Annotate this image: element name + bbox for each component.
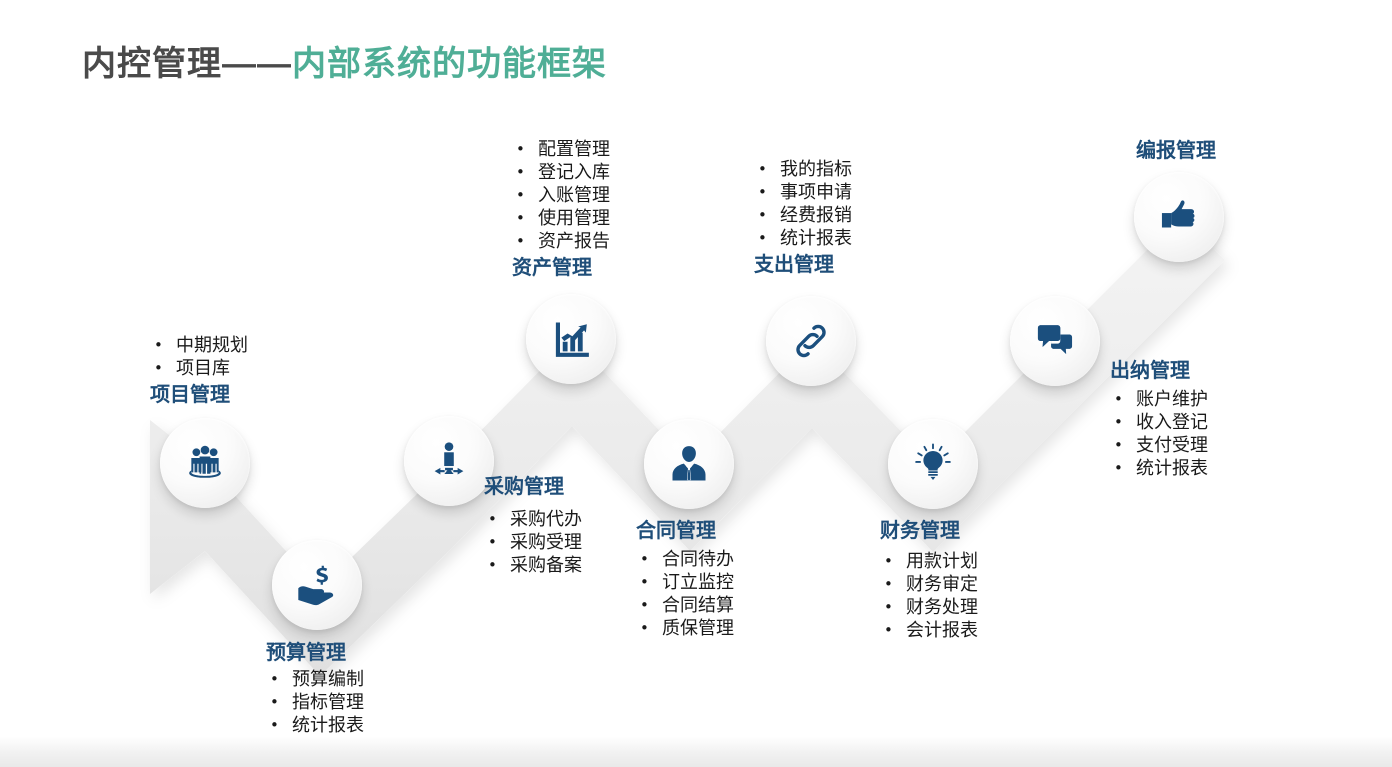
label-procurement-management: 采购管理 采购代办 采购受理 采购备案 — [484, 474, 582, 577]
list-item: 配置管理 — [512, 138, 610, 161]
group-title-expenditure-management: 支出管理 — [754, 252, 852, 278]
node-circle-contract-management[interactable] — [644, 419, 734, 509]
list-item: 合同结算 — [636, 594, 734, 617]
group-title-budget-management: 预算管理 — [266, 640, 364, 666]
bullet-list-asset-management: 配置管理 登记入库 入账管理 使用管理 资产报告 — [512, 138, 610, 253]
list-item: 采购受理 — [484, 531, 582, 554]
list-item: 统计报表 — [754, 227, 852, 250]
node-circle-project-management[interactable] — [160, 418, 250, 508]
label-expenditure-management: 我的指标 事项申请 经费报销 统计报表 支出管理 — [754, 158, 852, 278]
list-item: 预算编制 — [266, 668, 364, 691]
group-title-project-management: 项目管理 — [150, 382, 248, 408]
label-report-management: 编报管理 — [1136, 136, 1216, 164]
speech-bubbles-icon — [1034, 320, 1076, 362]
bullet-list-budget-management: 预算编制 指标管理 统计报表 — [266, 668, 364, 737]
label-contract-management: 合同管理 合同待办 订立监控 合同结算 质保管理 — [636, 518, 734, 640]
label-budget-management: 预算管理 预算编制 指标管理 统计报表 — [266, 640, 364, 737]
list-item: 指标管理 — [266, 691, 364, 714]
thumbs-up-icon — [1158, 196, 1200, 238]
list-item: 事项申请 — [754, 181, 852, 204]
list-item: 会计报表 — [880, 619, 978, 642]
list-item: 统计报表 — [266, 714, 364, 737]
group-title-cashier-management: 出纳管理 — [1110, 358, 1208, 384]
node-circle-expenditure-management[interactable] — [766, 296, 856, 386]
bullet-list-project-management: 中期规划 项目库 — [150, 334, 248, 380]
hand-money-icon — [294, 562, 340, 608]
list-item: 采购代办 — [484, 508, 582, 531]
group-title-procurement-management: 采购管理 — [484, 474, 582, 500]
list-item: 订立监控 — [636, 571, 734, 594]
person-arrows-icon — [426, 438, 472, 484]
list-item: 采购备案 — [484, 554, 582, 577]
businessman-icon — [667, 442, 711, 486]
bullet-list-cashier-management: 账户维护 收入登记 支付受理 统计报表 — [1110, 388, 1208, 480]
node-circle-report-management[interactable] — [1134, 172, 1224, 262]
lightbulb-icon — [911, 442, 955, 486]
list-item: 项目库 — [150, 357, 248, 380]
bullet-list-contract-management: 合同待办 订立监控 合同结算 质保管理 — [636, 548, 734, 640]
node-circle-asset-management[interactable] — [526, 294, 616, 384]
list-item: 使用管理 — [512, 207, 610, 230]
list-item: 用款计划 — [880, 550, 978, 573]
list-item: 入账管理 — [512, 184, 610, 207]
group-title-finance-management: 财务管理 — [880, 518, 978, 544]
list-item: 账户维护 — [1110, 388, 1208, 411]
node-circle-budget-management[interactable] — [272, 540, 362, 630]
list-item: 支付受理 — [1110, 434, 1208, 457]
slide-canvas: 内控管理——内部系统的功能框架 — [0, 0, 1392, 767]
node-circle-cashier-management[interactable] — [1010, 296, 1100, 386]
list-item: 财务处理 — [880, 596, 978, 619]
list-item: 统计报表 — [1110, 457, 1208, 480]
label-asset-management: 配置管理 登记入库 入账管理 使用管理 资产报告 资产管理 — [512, 138, 610, 281]
list-item: 质保管理 — [636, 617, 734, 640]
paperclip-link-icon — [790, 320, 832, 362]
bar-chart-growth-icon — [549, 317, 593, 361]
list-item: 合同待办 — [636, 548, 734, 571]
group-title-asset-management: 资产管理 — [512, 255, 610, 281]
list-item: 中期规划 — [150, 334, 248, 357]
bullet-list-expenditure-management: 我的指标 事项申请 经费报销 统计报表 — [754, 158, 852, 250]
group-title-contract-management: 合同管理 — [636, 518, 734, 544]
list-item: 财务审定 — [880, 573, 978, 596]
node-circle-procurement-management[interactable] — [404, 416, 494, 506]
label-finance-management: 财务管理 用款计划 财务审定 财务处理 会计报表 — [880, 518, 978, 642]
bullet-list-finance-management: 用款计划 财务审定 财务处理 会计报表 — [880, 550, 978, 642]
group-title-report-management: 编报管理 — [1136, 138, 1216, 164]
label-project-management: 中期规划 项目库 项目管理 — [150, 334, 248, 408]
list-item: 资产报告 — [512, 230, 610, 253]
people-group-icon — [182, 440, 228, 486]
list-item: 我的指标 — [754, 158, 852, 181]
list-item: 登记入库 — [512, 161, 610, 184]
list-item: 经费报销 — [754, 204, 852, 227]
bullet-list-procurement-management: 采购代办 采购受理 采购备案 — [484, 508, 582, 577]
list-item: 收入登记 — [1110, 411, 1208, 434]
label-cashier-management: 出纳管理 账户维护 收入登记 支付受理 统计报表 — [1110, 358, 1208, 480]
node-circle-finance-management[interactable] — [888, 419, 978, 509]
